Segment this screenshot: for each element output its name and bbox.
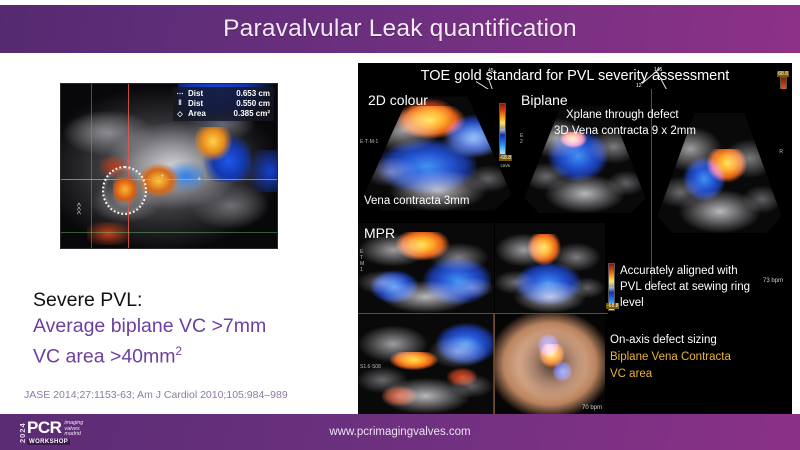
logo-row: PCR imaging valves madrid — [27, 420, 83, 438]
heart-rate-upper: 73 bpm — [763, 278, 783, 284]
label-aligned-line3: level — [620, 297, 644, 309]
doppler-red-bl — [382, 386, 417, 406]
label-aligned-line1: Accurately aligned with — [620, 265, 738, 277]
logo-brand: PCR — [27, 420, 61, 436]
label-mpr: MPR — [364, 225, 395, 241]
measurement-panel: ⋯ Dist 0.653 cm ‖ Dist 0.550 cm ◇ Area 0… — [173, 87, 274, 121]
reference-line-green-secondary — [61, 232, 277, 233]
depth-scale-marker: <<< — [74, 203, 81, 215]
echo-sector-biplane-left — [524, 106, 645, 213]
doppler-hot-bl — [390, 352, 444, 378]
label-on-axis-sizing: On-axis defect sizing — [610, 334, 717, 346]
cell-2d-colour: E·T·M·1 -68.8 cm/s 2D colour Vena contra… — [358, 89, 518, 213]
criteria-line-2: VC area >40mm2 — [33, 339, 266, 370]
doppler-cool-mpr-centre — [513, 259, 581, 306]
cell-biplane-left: E2 Biplane — [519, 89, 651, 213]
label-vena-contracta: Vena contracta 3mm — [364, 195, 469, 207]
planimetry-flow-core — [113, 177, 137, 202]
doppler-cool-3d — [537, 332, 559, 358]
echo-sector-2d — [364, 96, 511, 210]
label-2d-colour: 2D colour — [368, 92, 428, 108]
criteria-line-2-superscript: 2 — [176, 346, 182, 358]
cell-mpr-bottom-left: S1.6·S08 — [358, 314, 494, 414]
divider-bottom — [494, 314, 495, 414]
measurement-row: ⋯ Dist 0.653 cm — [176, 89, 270, 98]
doppler-red-bl-b — [447, 368, 477, 386]
depth-ruler-bottom-left: S1.6·S08 — [360, 364, 381, 370]
left-echo-image: + + <<< ⋯ Dist 0.653 cm ‖ Dist 0.550 cm … — [60, 83, 278, 249]
doppler-jet-central — [139, 159, 204, 202]
footer-url[interactable]: www.pcrimagingvalves.com — [0, 414, 800, 450]
depth-ruler-2d: E·T·M·1 — [360, 139, 378, 145]
measurement-label: Dist — [188, 89, 214, 98]
slide-root: Paravalvular Leak quantification + + <<<… — [0, 0, 800, 450]
colour-scale-min-2d: -68.8 — [499, 155, 512, 161]
caliper-marker-a: + — [160, 173, 164, 180]
label-vc-area: VC area — [610, 368, 652, 380]
cell-3d-volume: 70 bpm — [495, 314, 605, 414]
label-biplane: Biplane — [521, 92, 568, 108]
cell-mpr-centre — [495, 223, 605, 313]
page-title: Paravalvular Leak quantification — [223, 15, 577, 43]
slide-title-bar: Paravalvular Leak quantification — [0, 5, 800, 53]
colour-scale-max-top: 68.8 — [777, 71, 789, 77]
doppler-cool-mpr-b — [369, 268, 418, 304]
heart-rate-lower: 70 bpm — [582, 405, 602, 411]
pcr-logo: 2024 PCR imaging valves madrid WORKSHOP — [17, 419, 83, 446]
label-biplane-vena-contracta: Biplane Vena Contracta — [610, 351, 731, 363]
criteria-line-2-text: VC area >40mm — [33, 346, 176, 368]
label-aligned-line2: PVL defect at sewing ring — [620, 281, 750, 293]
doppler-cool-biplane-right — [682, 154, 724, 202]
cell-mpr: ETM1 MPR — [358, 223, 494, 313]
colour-scale-unit-2d: cm/s — [501, 163, 511, 168]
measurement-value: 0.653 cm — [218, 89, 270, 98]
label-3d-vena-contracta: 3D Vena contracta 9 x 2mm — [554, 125, 696, 137]
logo-workshop: WORKSHOP — [27, 439, 70, 445]
reference-line-green — [61, 179, 277, 180]
measurement-value: 0.550 cm — [218, 99, 270, 108]
logo-year: 2024 — [17, 419, 27, 446]
depth-ruler-mpr: ETM1 — [360, 249, 364, 273]
colour-doppler-scale-2d — [499, 103, 506, 155]
caliper-marker-b: + — [197, 176, 201, 183]
area-icon: ◇ — [176, 110, 184, 118]
measurement-row: ◇ Area 0.385 cm² — [176, 109, 270, 118]
slide-footer: www.pcrimagingvalves.com 2024 PCR imagin… — [0, 414, 800, 450]
measurement-label: Dist — [188, 99, 214, 108]
toe-composite-panel: TOE gold standard for PVL severity asses… — [358, 63, 792, 414]
depth-ruler-biplane-right: R — [779, 149, 783, 155]
criteria-line-1: Average biplane VC >7mm — [33, 313, 266, 339]
doppler-cool-3d-b — [552, 360, 572, 382]
measurement-label: Area — [188, 109, 214, 118]
logo-subtitle: imaging valves madrid — [64, 420, 83, 438]
doppler-red-bottom-left — [87, 222, 130, 245]
toe-panel-header: TOE gold standard for PVL severity asses… — [358, 63, 792, 89]
caliper-angle-45: 45 — [488, 68, 494, 74]
depth-ruler-biplane-left: E2 — [520, 133, 523, 145]
severity-heading: Severe PVL: — [33, 288, 266, 313]
severity-criteria-block: Severe PVL: Average biplane VC >7mm VC a… — [33, 288, 266, 370]
logo-sub-line-3: madrid — [64, 431, 80, 437]
dist-icon: ⋯ — [176, 90, 184, 98]
citation-reference: JASE 2014;27:1153-63; Am J Cardiol 2010;… — [24, 389, 288, 401]
dist-icon: ‖ — [176, 100, 184, 107]
measurement-value: 0.385 cm² — [218, 109, 270, 118]
colour-scale-min-mid: -68.8 — [606, 303, 619, 309]
reference-line-blue — [91, 84, 92, 248]
measurement-row: ‖ Dist 0.550 cm — [176, 99, 270, 108]
label-xplane: Xplane through defect — [566, 109, 679, 121]
doppler-cool-mpr — [421, 254, 492, 306]
toe-header-text: TOE gold standard for PVL severity asses… — [421, 68, 730, 84]
logo-main: PCR imaging valves madrid WORKSHOP — [27, 419, 83, 446]
